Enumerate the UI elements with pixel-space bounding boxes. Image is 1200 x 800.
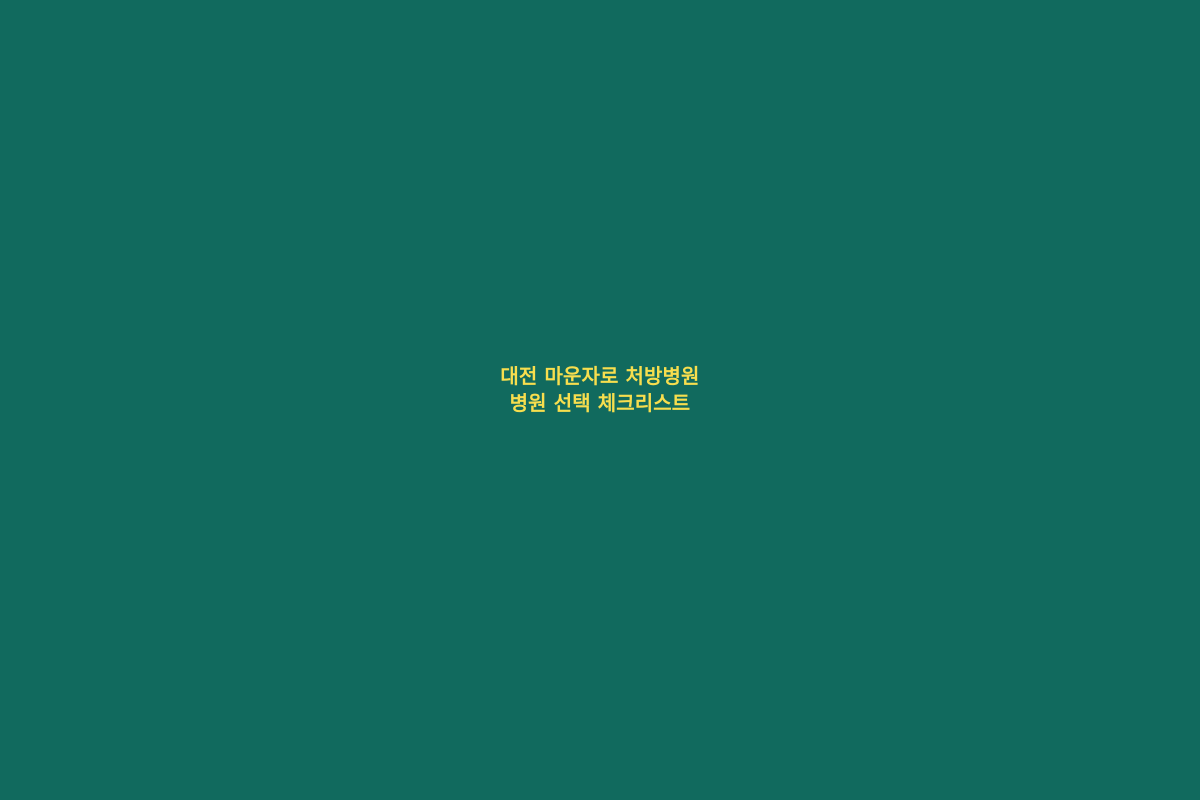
title-line-primary: 대전 마운자로 처방병원 xyxy=(40,363,1160,390)
title-banner: 대전 마운자로 처방병원 병원 선택 체크리스트 xyxy=(0,0,1200,800)
page-title: 대전 마운자로 처방병원 병원 선택 체크리스트 xyxy=(0,363,1200,417)
title-line-secondary: 병원 선택 체크리스트 xyxy=(40,390,1160,417)
